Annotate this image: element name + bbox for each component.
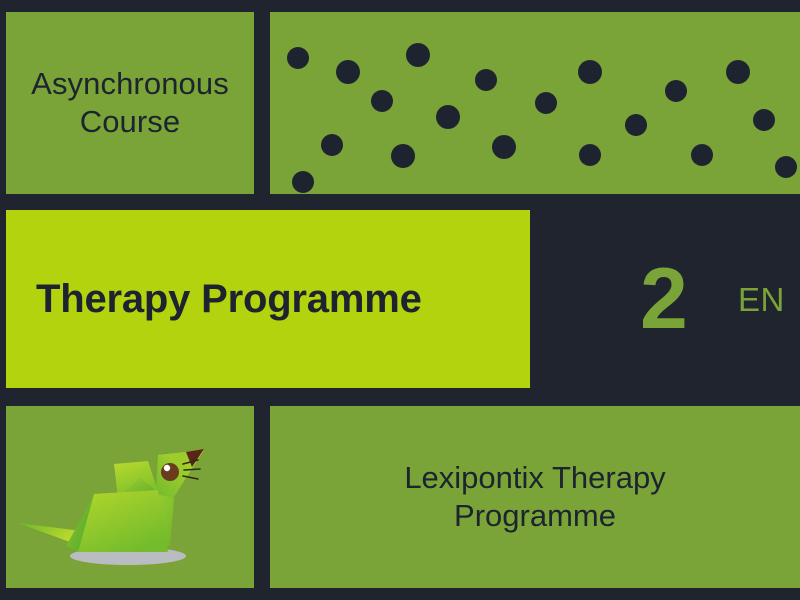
asynchronous-course-line2: Course [80,104,181,139]
pattern-dot [321,134,343,156]
pattern-dot [691,144,713,166]
pattern-dot [287,47,309,69]
asynchronous-course-line1: Asynchronous [31,66,229,101]
asynchronous-course-label: Asynchronous Course [23,65,237,141]
pattern-dot [578,60,602,84]
pattern-dot [625,114,647,136]
pattern-dot [492,135,516,159]
level-number: 2 [640,256,688,342]
language-badge: EN [738,281,785,319]
pattern-dot [665,80,687,102]
banner-title: Therapy Programme [6,277,422,322]
pattern-dot [391,144,415,168]
pattern-dot [475,69,497,91]
mascot-eye [161,463,179,481]
pattern-dot [753,109,775,131]
programme-name-line1: Lexipontix Therapy [404,460,665,495]
pattern-dot [406,43,430,67]
poster-canvas: Asynchronous Course Therapy Programme Le… [0,0,800,600]
pattern-dot [292,171,314,193]
mascot-eye-highlight [164,465,170,471]
dot-pattern-tile [270,12,800,194]
mascot-tile[interactable] [6,406,254,588]
programme-name-line2: Programme [454,498,616,533]
asynchronous-course-tile[interactable]: Asynchronous Course [6,12,254,194]
origami-mouse-icon [6,406,254,588]
pattern-dot [535,92,557,114]
pattern-dot [436,105,460,129]
level-meta-block: Level 2 EN [530,210,800,388]
dot-pattern-graphic [270,12,800,194]
pattern-dot [775,156,797,178]
pattern-dot [726,60,750,84]
programme-name-label: Lexipontix Therapy Programme [364,459,705,536]
pattern-dot [336,60,360,84]
programme-name-tile[interactable]: Lexipontix Therapy Programme [270,406,800,588]
therapy-programme-banner[interactable]: Therapy Programme [6,210,530,388]
pattern-dot [579,144,601,166]
pattern-dot [371,90,393,112]
